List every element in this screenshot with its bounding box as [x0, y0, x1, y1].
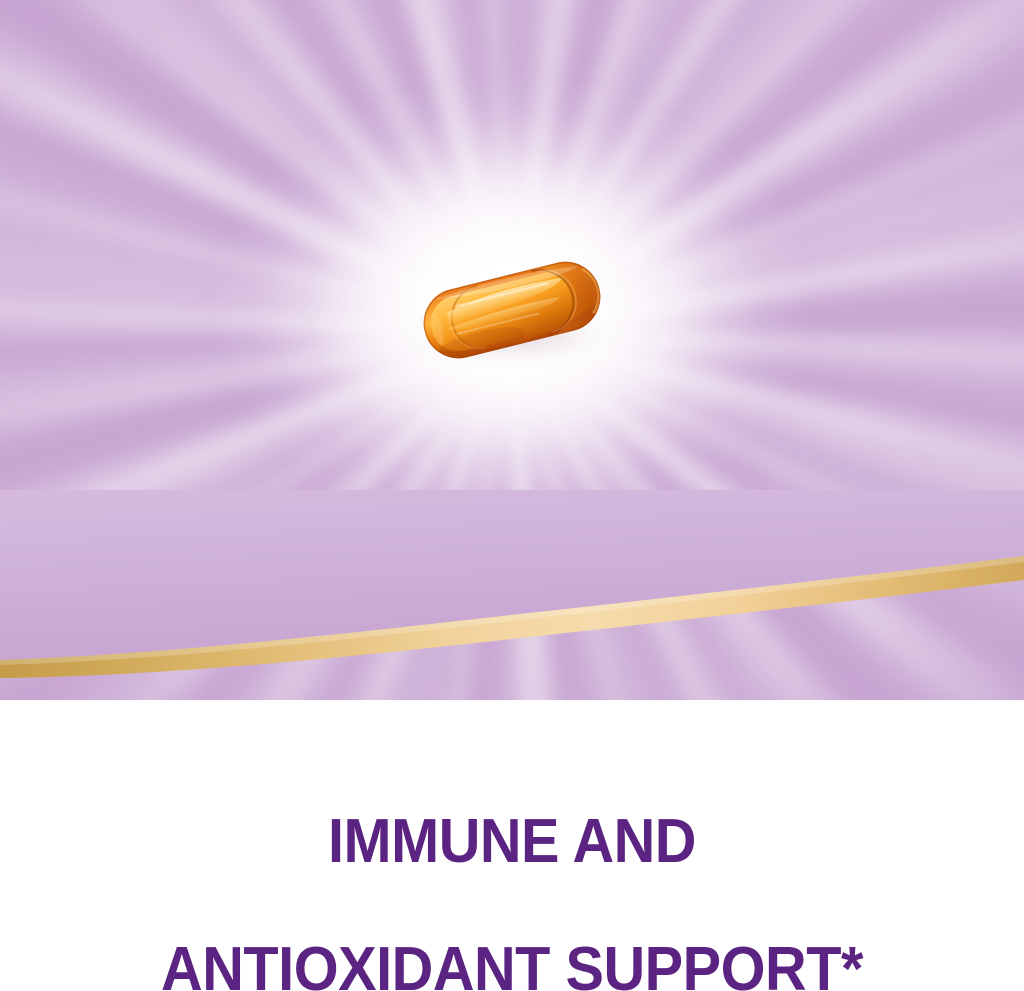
banner-content: IMMUNE AND ANTIOXIDANT SUPPORT* *This st…	[0, 700, 1024, 991]
headline-line-2: ANTIOXIDANT SUPPORT*	[36, 938, 988, 991]
page-title: IMMUNE AND ANTIOXIDANT SUPPORT*	[36, 700, 988, 991]
product-banner: IMMUNE AND ANTIOXIDANT SUPPORT* *This st…	[0, 0, 1024, 991]
product-capsule	[412, 249, 611, 369]
headline-line-1: IMMUNE AND	[36, 810, 988, 874]
gold-wave-divider	[0, 490, 1024, 720]
